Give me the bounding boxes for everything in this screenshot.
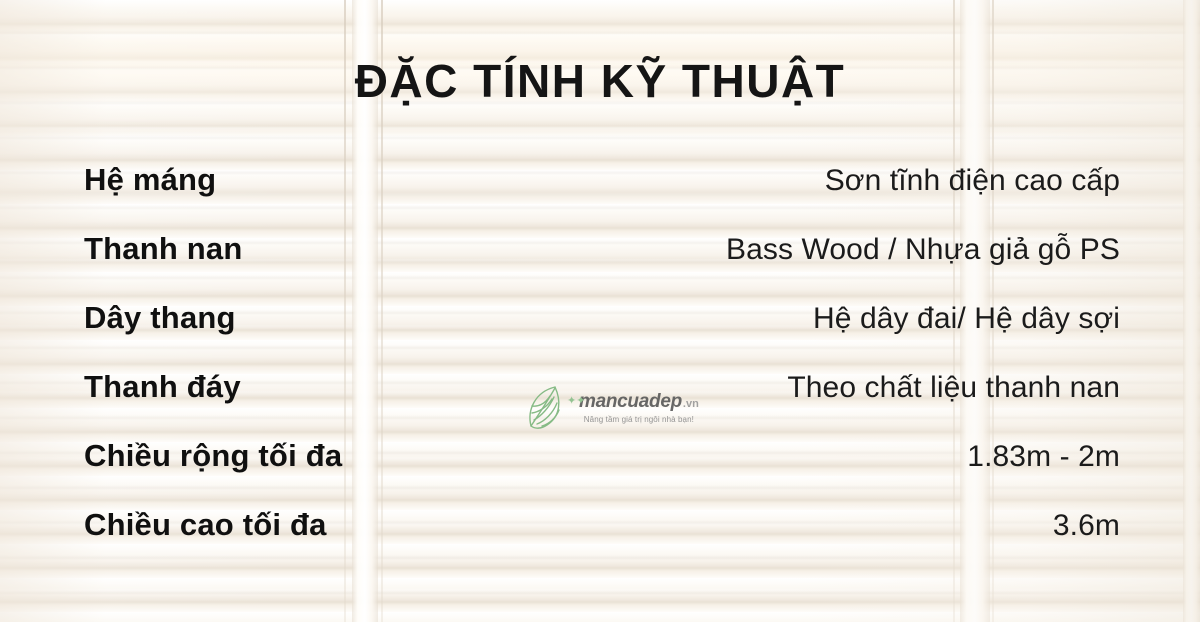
spec-value: Theo chất liệu thanh nan [787, 371, 1120, 405]
spec-value: 1.83m - 2m [967, 440, 1120, 474]
table-row: Dây thang Hệ dây đai/ Hệ dây sợi [84, 300, 1120, 369]
spec-value: Sơn tĩnh điện cao cấp [825, 164, 1120, 198]
specification-table: Hệ máng Sơn tĩnh điện cao cấp Thanh nan … [84, 162, 1120, 576]
spec-label: Chiều cao tối đa [84, 507, 327, 543]
spec-label: Thanh đáy [84, 369, 241, 405]
spec-value: Hệ dây đai/ Hệ dây sợi [813, 302, 1120, 336]
table-row: Hệ máng Sơn tĩnh điện cao cấp [84, 162, 1120, 231]
table-row: Thanh đáy Theo chất liệu thanh nan [84, 369, 1120, 438]
specification-panel: ĐẶC TÍNH KỸ THUẬT Hệ máng Sơn tĩnh điện … [0, 0, 1200, 622]
spec-value: 3.6m [1053, 509, 1120, 543]
table-row: Chiều rộng tối đa 1.83m - 2m [84, 438, 1120, 507]
spec-label: Hệ máng [84, 162, 216, 198]
spec-label: Dây thang [84, 300, 236, 336]
spec-value: Bass Wood / Nhựa giả gỗ PS [726, 233, 1120, 267]
spec-label: Chiều rộng tối đa [84, 438, 342, 474]
table-row: Chiều cao tối đa 3.6m [84, 507, 1120, 576]
page-title: ĐẶC TÍNH KỸ THUẬT [0, 54, 1200, 108]
spec-label: Thanh nan [84, 231, 243, 267]
table-row: Thanh nan Bass Wood / Nhựa giả gỗ PS [84, 231, 1120, 300]
content-layer: ĐẶC TÍNH KỸ THUẬT Hệ máng Sơn tĩnh điện … [0, 0, 1200, 622]
